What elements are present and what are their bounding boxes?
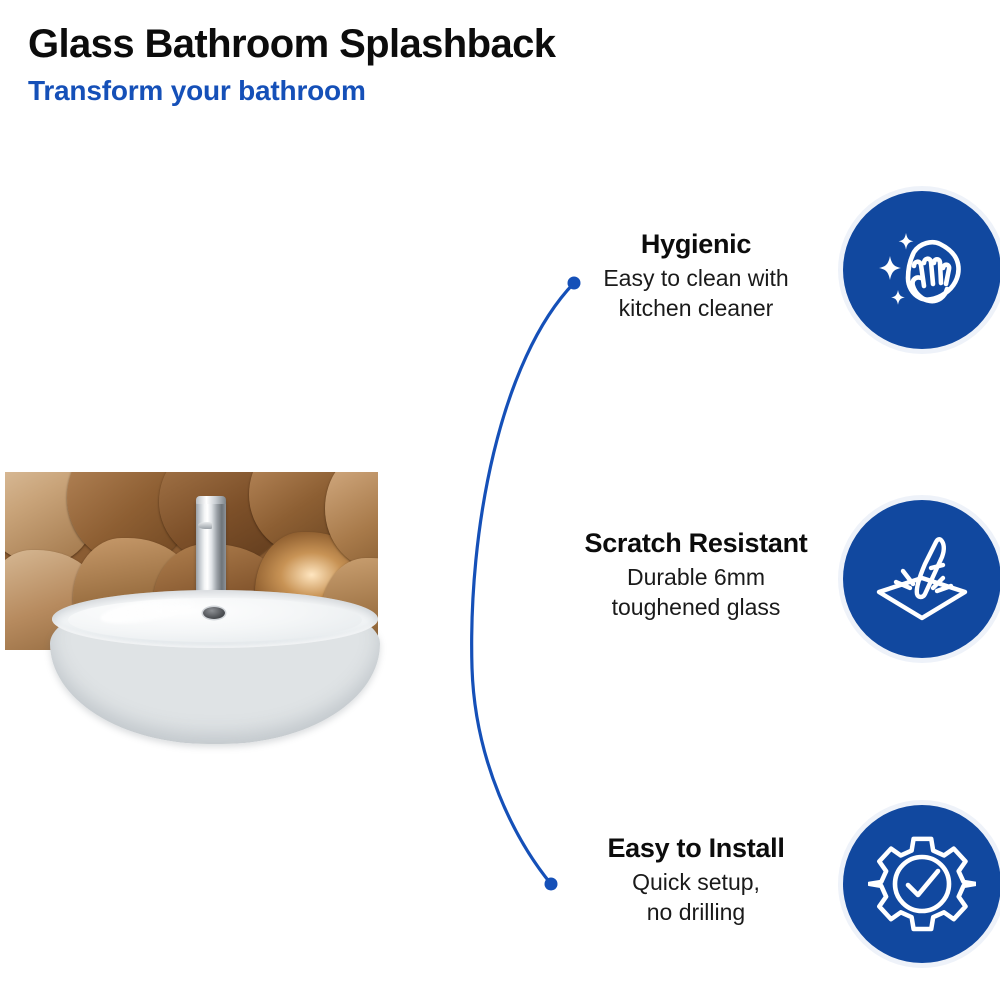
- page-subtitle: Transform your bathroom: [28, 75, 928, 107]
- tap-lever: [198, 522, 212, 529]
- chrome-tap: [196, 498, 226, 604]
- feature-description-line: toughened glass: [531, 593, 861, 622]
- feature-icon-badge-hygienic: [843, 191, 1000, 349]
- feature-title: Hygienic: [531, 228, 861, 260]
- feature-icon-badge-easy-to-install: [843, 805, 1000, 963]
- feature-description: Durable 6mm toughened glass: [531, 563, 861, 622]
- feature-description: Easy to clean with kitchen cleaner: [531, 264, 861, 323]
- feature-title: Scratch Resistant: [531, 527, 861, 559]
- feature-description-line: Quick setup,: [531, 868, 861, 897]
- feature-description-line: kitchen cleaner: [531, 294, 861, 323]
- header: Glass Bathroom Splashback Transform your…: [28, 22, 928, 107]
- feature-description: Quick setup, no drilling: [531, 868, 861, 927]
- basin-drain: [203, 607, 225, 619]
- gear-checkmark-icon: [868, 830, 976, 938]
- feature-easy-to-install: Easy to Install Quick setup, no drilling: [531, 832, 861, 927]
- cleaning-hand-sparkle-icon: [870, 218, 974, 322]
- feature-description-line: no drilling: [531, 898, 861, 927]
- feature-hygienic: Hygienic Easy to clean with kitchen clea…: [531, 228, 861, 323]
- tap-spout-top: [196, 496, 226, 504]
- feature-title: Easy to Install: [531, 832, 861, 864]
- feature-icon-badge-scratch-resistant: [843, 500, 1000, 658]
- page-title: Glass Bathroom Splashback: [28, 22, 928, 67]
- feature-description-line: Easy to clean with: [531, 264, 861, 293]
- knife-impact-surface-icon: [869, 526, 975, 632]
- product-photo: [0, 440, 440, 770]
- feature-description-line: Durable 6mm: [531, 563, 861, 592]
- feature-scratch-resistant: Scratch Resistant Durable 6mm toughened …: [531, 527, 861, 622]
